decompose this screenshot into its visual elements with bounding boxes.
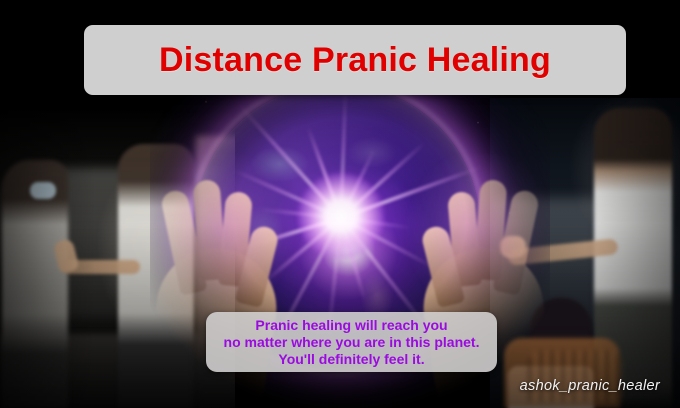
energy-core-burst — [298, 173, 384, 259]
title-banner: Distance Pranic Healing — [84, 25, 626, 95]
poster: Distance Pranic Healing Pranic healing w… — [0, 0, 680, 408]
face-mask-icon — [30, 182, 56, 199]
caption-line-2: no matter where you are in this planet. — [224, 334, 480, 351]
watermark-username: ashok_pranic_healer — [520, 378, 660, 394]
caption-line-3: You'll definitely feel it. — [278, 351, 424, 368]
caption-line-1: Pranic healing will reach you — [255, 317, 447, 334]
page-title: Distance Pranic Healing — [159, 41, 551, 80]
caption-box: Pranic healing will reach you no matter … — [206, 312, 497, 372]
